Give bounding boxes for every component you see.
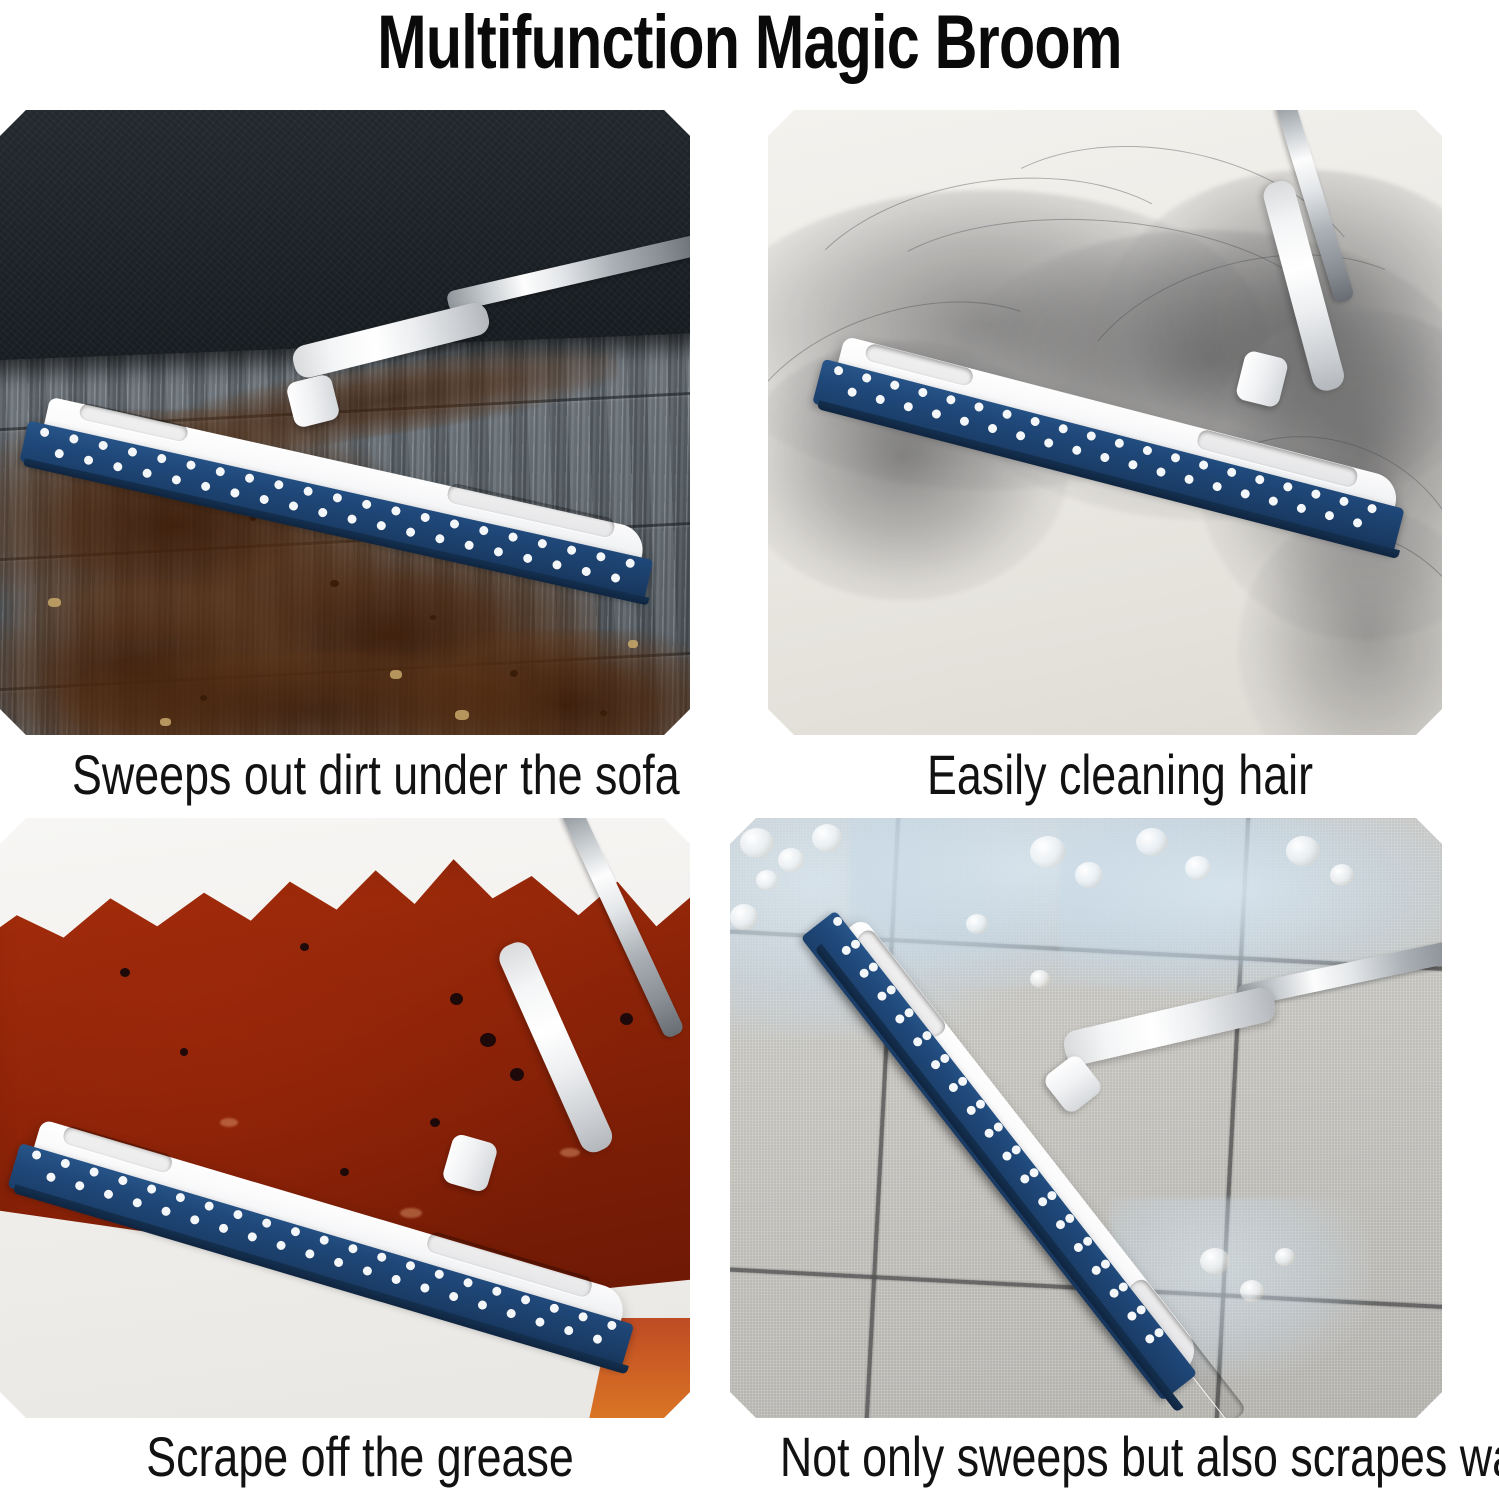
caption-bottom-left: Scrape off the grease: [72, 1424, 648, 1489]
metal-pole: [560, 818, 685, 1040]
crumb: [455, 710, 469, 720]
blade-dot-row-lower: [825, 928, 1185, 1385]
dirt-speck: [330, 580, 339, 587]
broom-bottom-left: [10, 818, 690, 1418]
panel-top-left: [0, 110, 690, 735]
scene-hair: [768, 110, 1442, 735]
broom-top-right: [798, 110, 1418, 710]
crumb: [48, 598, 61, 607]
panel-bottom-right: [730, 818, 1442, 1418]
caption-top-left: Sweeps out dirt under the sofa: [72, 742, 648, 807]
caption-top-right: Easily cleaning hair: [832, 742, 1408, 807]
page-title: Multifunction Magic Broom: [165, 0, 1334, 92]
pivot-joint: [1235, 349, 1290, 408]
product-infographic: Multifunction Magic Broom: [0, 0, 1499, 1500]
dirt-speck: [510, 670, 518, 677]
dirt-speck: [200, 695, 207, 701]
scene-sofa-dirt: [0, 110, 690, 735]
caption-bottom-right: Not only sweeps but also scrapes water: [780, 1424, 1419, 1489]
scene-water-tile: [730, 818, 1442, 1418]
pivot-joint: [1042, 1052, 1105, 1115]
scene-grease: [0, 818, 690, 1418]
pivot-joint: [441, 1133, 499, 1194]
handle-grip: [1061, 985, 1278, 1067]
crumb: [390, 670, 402, 679]
blade-dot-row-lower: [26, 1166, 624, 1354]
blade-dot-row-upper: [825, 910, 1185, 1367]
blade-dot-row-upper: [35, 426, 643, 573]
dirt-speck: [430, 615, 436, 620]
blade-dot-row-upper: [26, 1148, 624, 1336]
handle-grip: [290, 300, 492, 380]
crumb: [160, 718, 171, 726]
pivot-joint: [285, 373, 341, 429]
dirt-patch: [60, 650, 560, 735]
blade-lip: [814, 944, 1183, 1413]
handle-grip: [495, 938, 617, 1157]
blade-dot-row-upper: [828, 364, 1393, 521]
panel-bottom-left: [0, 818, 690, 1418]
crumb: [628, 640, 638, 648]
dirt-speck: [600, 710, 607, 716]
broom-bottom-right: [730, 818, 1442, 1418]
panel-top-right: [768, 110, 1442, 735]
broom-top-left: [18, 286, 678, 576]
